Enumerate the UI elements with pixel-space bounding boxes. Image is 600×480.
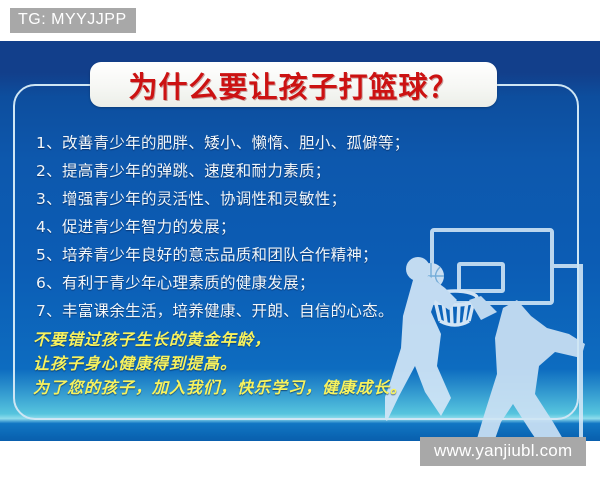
page-title: 为什么要让孩子打篮球？ — [128, 64, 458, 106]
slogan-line: 让孩子身心健康得到提高。 — [33, 352, 473, 376]
list-item: 3、增强青少年的灵活性、协调性和灵敏性； — [36, 185, 456, 213]
slogan-line: 不要错过孩子生长的黄金年龄， — [33, 328, 473, 352]
poster-image: 为什么要让孩子打篮球？ 1、改善青少年的肥胖、矮小、懒惰、胆小、孤僻等； 2、提… — [0, 0, 600, 480]
list-item: 2、提高青少年的弹跳、速度和耐力素质； — [36, 157, 456, 185]
list-item: 5、培养青少年良好的意志品质和团队合作精神； — [36, 241, 456, 269]
tg-handle-badge: TG: MYYJJPP — [10, 8, 136, 33]
list-item: 7、丰富课余生活，培养健康、开朗、自信的心态。 — [36, 297, 456, 325]
poster-title-box: 为什么要让孩子打篮球？ — [90, 62, 497, 107]
benefit-list: 1、改善青少年的肥胖、矮小、懒惰、胆小、孤僻等； 2、提高青少年的弹跳、速度和耐… — [36, 129, 456, 325]
slogan-block: 不要错过孩子生长的黄金年龄， 让孩子身心健康得到提高。 为了您的孩子，加入我们，… — [33, 328, 473, 400]
site-watermark: www.yanjiubl.com — [420, 437, 586, 466]
blue-panel: 为什么要让孩子打篮球？ 1、改善青少年的肥胖、矮小、懒惰、胆小、孤僻等； 2、提… — [0, 41, 600, 441]
list-item: 1、改善青少年的肥胖、矮小、懒惰、胆小、孤僻等； — [36, 129, 456, 157]
slogan-line: 为了您的孩子，加入我们，快乐学习，健康成长。 — [33, 376, 473, 400]
list-item: 4、促进青少年智力的发展； — [36, 213, 456, 241]
list-item: 6、有利于青少年心理素质的健康发展； — [36, 269, 456, 297]
